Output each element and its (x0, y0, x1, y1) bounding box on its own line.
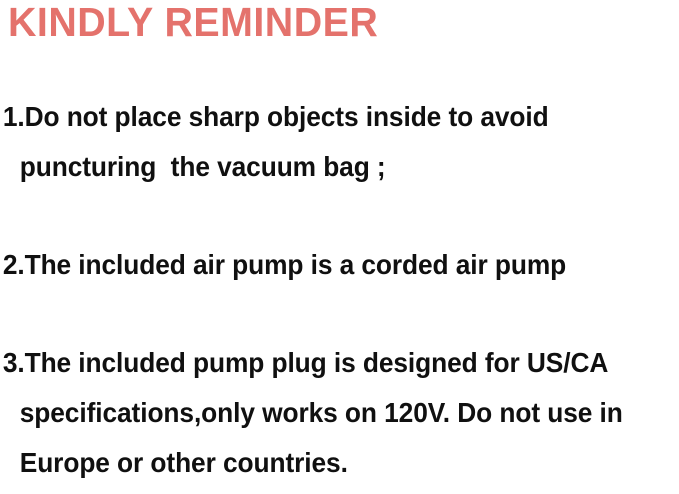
list-item: 3.The included pump plug is designed for… (0, 338, 679, 488)
reminder-line: 3.The included pump plug is designed for… (0, 338, 638, 388)
list-item: 2.The included air pump is a corded air … (0, 240, 679, 290)
reminder-line: 1.Do not place sharp objects inside to a… (0, 92, 638, 142)
reminder-line: Europe or other countries. (0, 438, 638, 488)
list-item: 1.Do not place sharp objects inside to a… (0, 92, 679, 192)
reminder-line: puncturing the vacuum bag ; (0, 142, 638, 192)
page-title: KINDLY REMINDER (8, 0, 378, 46)
reminder-list: 1.Do not place sharp objects inside to a… (0, 92, 679, 488)
reminder-line: 2.The included air pump is a corded air … (0, 240, 638, 290)
kindly-reminder-notice: KINDLY REMINDER 1.Do not place sharp obj… (0, 0, 679, 494)
reminder-line: specifications,only works on 120V. Do no… (0, 388, 638, 438)
